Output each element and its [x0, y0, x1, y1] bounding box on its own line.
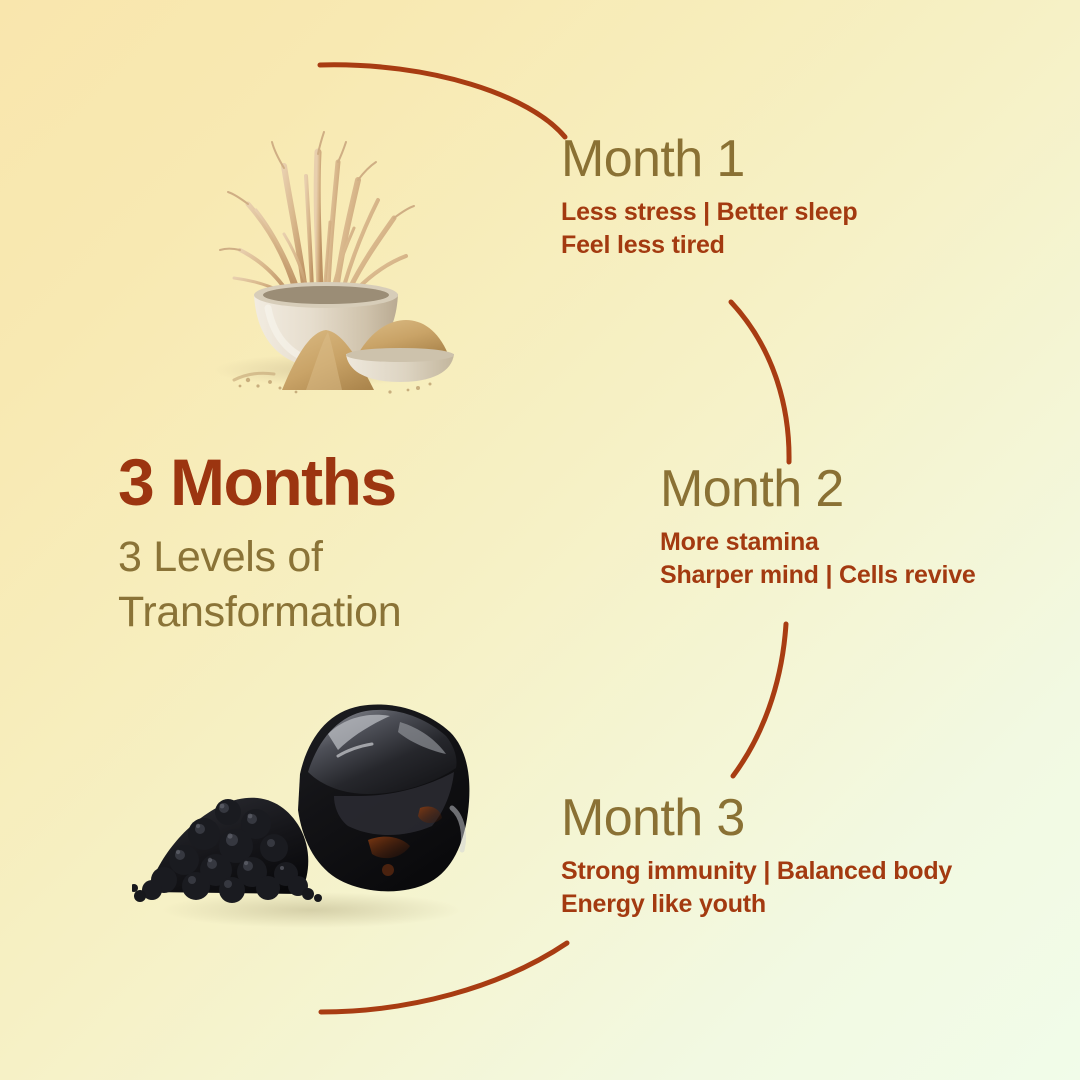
ashwagandha-root-bowl-image [186, 118, 456, 396]
arc-month2-to-month3 [733, 624, 786, 776]
month-2-benefit-line: More stamina [660, 526, 976, 559]
month-3-title: Month 3 [561, 790, 952, 846]
month-2-block: Month 2 More stamina Sharper mind | Cell… [660, 461, 976, 592]
month-1-benefits: Less stress | Better sleep Feel less tir… [561, 196, 857, 262]
page-subtitle-line2: Transformation [118, 585, 548, 640]
month-2-title: Month 2 [660, 461, 976, 517]
month-2-benefits: More stamina Sharper mind | Cells revive [660, 526, 976, 592]
month-3-benefits: Strong immunity | Balanced body Energy l… [561, 855, 952, 921]
infographic-poster: 3 Months 3 Levels of Transformation Mont… [0, 0, 1080, 1080]
headline-block: 3 Months 3 Levels of Transformation [118, 448, 548, 640]
month-1-title: Month 1 [561, 131, 857, 187]
month-3-block: Month 3 Strong immunity | Balanced body … [561, 790, 952, 921]
page-subtitle: 3 Levels of Transformation [118, 530, 548, 640]
month-3-benefit-line: Energy like youth [561, 888, 952, 921]
page-subtitle-line1: 3 Levels of [118, 530, 548, 585]
month-1-block: Month 1 Less stress | Better sleep Feel … [561, 131, 857, 262]
arc-month1-to-month2 [731, 302, 789, 462]
page-title: 3 Months [118, 448, 548, 518]
month-2-benefit-line: Sharper mind | Cells revive [660, 559, 976, 592]
arc-month3-to-bottom [321, 943, 567, 1012]
shilajit-resin-rock-image [132, 688, 480, 940]
month-1-benefit-line: Less stress | Better sleep [561, 196, 857, 229]
month-3-benefit-line: Strong immunity | Balanced body [561, 855, 952, 888]
month-1-benefit-line: Feel less tired [561, 229, 857, 262]
